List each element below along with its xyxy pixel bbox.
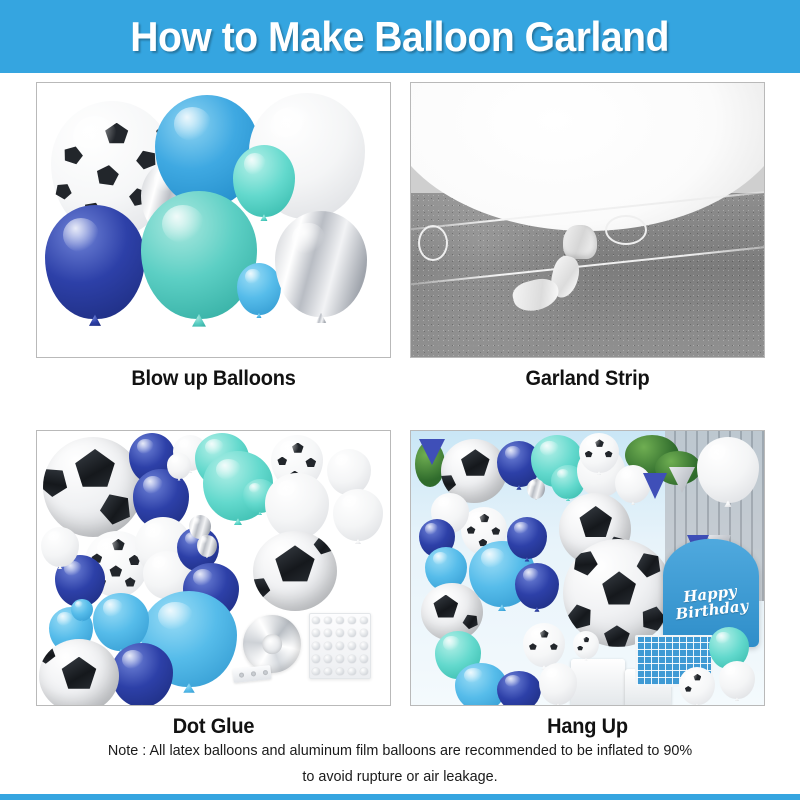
note-line-1: Note : All latex balloons and aluminum f… [16,738,784,764]
steps-grid: Blow up Balloons Garland Strip [36,82,765,742]
step-hang-up: Happy Birthday [410,430,765,742]
hang-balloon-silver-1 [527,479,545,499]
garland-strip-photo [411,83,764,357]
strip-hole-right [605,215,647,245]
balloon-white-4 [327,449,371,495]
step-3-caption: Dot Glue [45,715,382,739]
step-2-photo [410,82,765,358]
balloon-silver-2 [197,535,217,557]
foil-soccer-ball-centre-large [563,539,673,647]
foil-soccer-ball-bottom [39,639,119,706]
happy-birthday-text: Happy Birthday [663,581,759,624]
hang-balloon-soccer-bottom-2 [523,623,565,667]
happy-birthday-sign: Happy Birthday [663,539,759,647]
hang-balloon-soccer-bottom-1 [573,631,599,659]
hang-balloon-soccer-top [579,433,619,473]
hang-balloon-royal-5 [497,671,541,706]
foil-soccer-ball-right [253,531,337,611]
balloon-tape-roll [243,615,301,673]
step-dot-glue: Dot Glue [36,430,391,742]
balloon-white-2 [167,453,191,479]
balloon-silver-large [275,211,367,317]
glue-dot-sheet [309,613,371,679]
hang-balloon-white-4 [719,661,755,699]
page-header-banner: How to Make Balloon Garland [0,0,800,73]
footer-accent-bar [0,794,800,800]
step-4-caption: Hang Up [419,715,756,739]
balloon-sky-4 [71,599,93,621]
step-2-caption: Garland Strip [419,367,756,391]
step-1-photo [36,82,391,358]
balloon-white-8 [41,527,79,567]
tape-roll-hub [262,634,282,654]
note-line-2: to avoid rupture or air leakage. [16,764,784,790]
step-3-photo [36,430,391,706]
balloon-white-5 [333,489,383,541]
hang-balloon-royal-4 [515,563,559,609]
step-blow-up-balloons: Blow up Balloons [36,82,391,394]
inflation-note: Note : All latex balloons and aluminum f… [16,738,784,790]
balloon-sky-small [237,263,281,315]
foil-soccer-ball-large [43,437,143,537]
step-garland-strip: Garland Strip [410,82,765,394]
page-title: How to Make Balloon Garland [131,13,670,61]
balloon-knot [563,225,597,259]
tape-strip-tail [232,665,271,683]
hang-balloon-white-5 [539,663,577,705]
balloon-white-3 [265,473,329,539]
hang-balloon-royal-3 [507,517,547,559]
balloon-aqua-small [233,145,295,217]
hang-balloon-white-2 [615,465,651,503]
balloon-white-topright [697,437,759,503]
dessert-table [571,659,625,706]
step-1-caption: Blow up Balloons [45,367,382,391]
hang-balloon-soccer-bottom-3 [679,667,715,705]
balloon-royal-6 [111,643,173,706]
balloon-royal-blue-large [45,205,145,319]
step-4-photo: Happy Birthday [410,430,765,706]
